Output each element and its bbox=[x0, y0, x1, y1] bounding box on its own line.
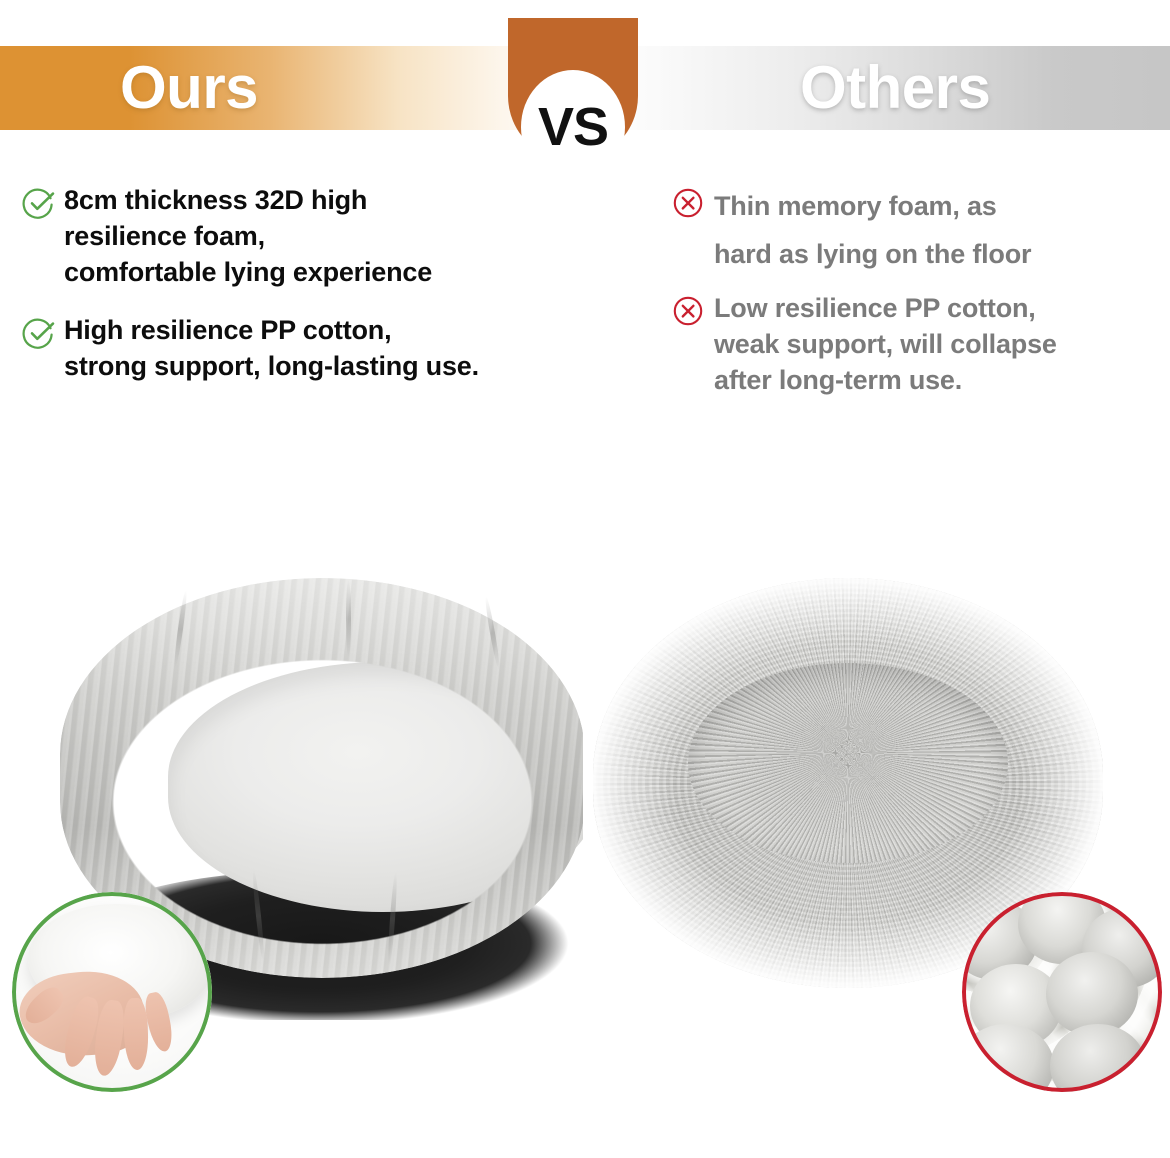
ours-title: Ours bbox=[120, 52, 258, 124]
check-circle-icon bbox=[22, 186, 56, 220]
comparison-infographic: Ours Others VS 8cm thickness 32D high re… bbox=[0, 0, 1170, 1158]
header: Ours Others VS bbox=[0, 0, 1170, 175]
ours-banner-band bbox=[0, 46, 585, 130]
pros-list: 8cm thickness 32D high resilience foam, … bbox=[22, 182, 592, 384]
product-photo-area bbox=[0, 440, 1170, 1158]
cons-spacer bbox=[672, 278, 1170, 290]
pros-item-1-text: 8cm thickness 32D high resilience foam, … bbox=[64, 182, 432, 290]
vs-label: VS bbox=[538, 96, 608, 158]
check-circle-icon bbox=[22, 316, 56, 350]
pros-item-1: 8cm thickness 32D high resilience foam, … bbox=[22, 182, 592, 290]
x-circle-icon bbox=[672, 186, 706, 220]
cons-item-1-text: Thin memory foam, as hard as lying on th… bbox=[714, 182, 1031, 278]
others-title: Others bbox=[800, 52, 990, 124]
cons-item-2: Low resilience PP cotton, weak support, … bbox=[672, 290, 1170, 398]
inset-egg-crate-foam bbox=[962, 892, 1162, 1092]
inset-hand-pressing-foam bbox=[12, 892, 212, 1092]
x-circle-icon bbox=[672, 294, 706, 328]
photo-divider bbox=[583, 440, 593, 1158]
vs-badge: VS bbox=[508, 18, 638, 161]
pros-spacer bbox=[22, 290, 592, 312]
pros-item-2-text: High resilience PP cotton, strong suppor… bbox=[64, 312, 479, 384]
cons-item-1: Thin memory foam, as hard as lying on th… bbox=[672, 182, 1170, 278]
vs-circle: VS bbox=[521, 70, 625, 184]
bed-seam bbox=[346, 580, 351, 658]
donut-bed-center bbox=[688, 663, 1008, 863]
cons-item-2-text: Low resilience PP cotton, weak support, … bbox=[714, 290, 1057, 398]
cons-list: Thin memory foam, as hard as lying on th… bbox=[672, 182, 1170, 398]
pros-item-2: High resilience PP cotton, strong suppor… bbox=[22, 312, 592, 384]
